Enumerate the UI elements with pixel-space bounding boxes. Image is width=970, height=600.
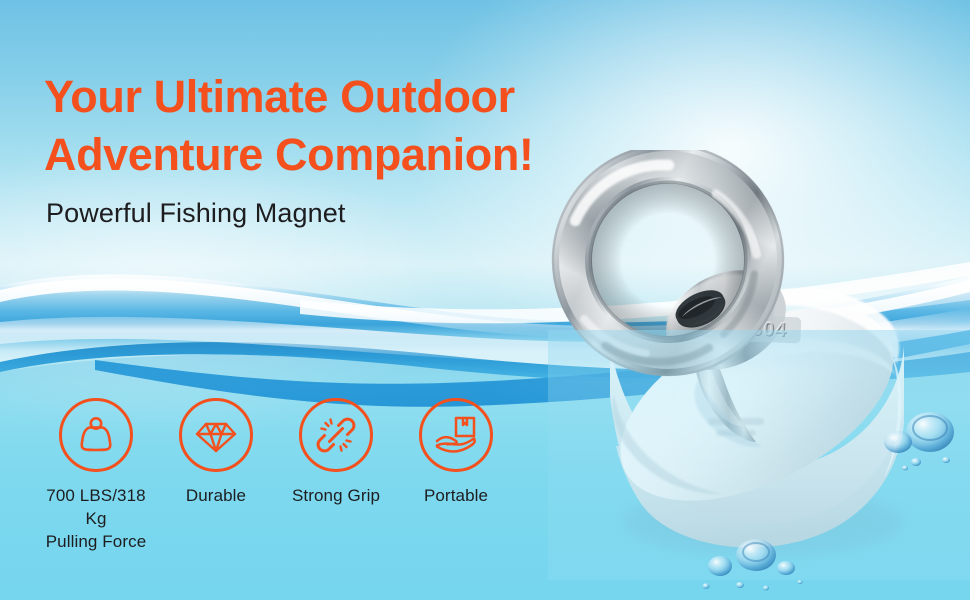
feature-pulling-force: 700 LBS/318 Kg Pulling Force <box>36 398 156 553</box>
feature-label: Strong Grip <box>292 484 380 507</box>
headline-line-1: Your Ultimate Outdoor <box>44 71 515 122</box>
fishing-magnet-product-image: 304 304 <box>548 150 968 570</box>
feature-portable: Portable <box>396 398 516 507</box>
hand-holding-box-icon <box>433 412 479 458</box>
diamond-icon-badge <box>179 398 253 472</box>
weight-icon <box>73 412 119 458</box>
headline-line-2: Adventure Companion! <box>44 126 604 184</box>
feature-list: 700 LBS/318 Kg Pulling Force Durable <box>36 398 556 553</box>
feature-durable: Durable <box>156 398 276 507</box>
diamond-icon <box>193 412 239 458</box>
product-banner: 304 304 <box>0 0 970 600</box>
page-title: Your Ultimate Outdoor Adventure Companio… <box>44 68 604 184</box>
feature-label: Durable <box>186 484 246 507</box>
feature-label: Portable <box>424 484 488 507</box>
feature-strong-grip: Strong Grip <box>276 398 396 507</box>
subtitle: Powerful Fishing Magnet <box>46 198 345 229</box>
chain-link-icon <box>313 412 359 458</box>
chain-link-icon-badge <box>299 398 373 472</box>
weight-icon-badge <box>59 398 133 472</box>
feature-label: 700 LBS/318 Kg Pulling Force <box>36 484 156 553</box>
hand-holding-box-icon-badge <box>419 398 493 472</box>
